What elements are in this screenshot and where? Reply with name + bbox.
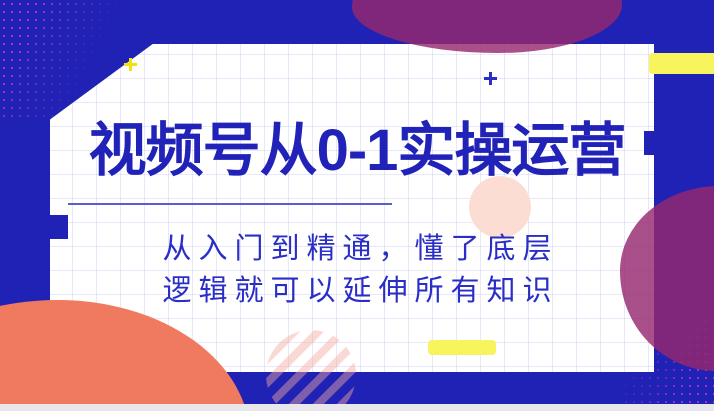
plus-mark-blue-top-icon xyxy=(484,72,497,85)
yellow-accent-bar-bottom xyxy=(428,340,496,355)
striped-circle-decoration xyxy=(266,330,356,411)
poster-subtitle: 从入门到精通，懂了底层 逻辑就可以延伸所有知识 xyxy=(0,228,714,312)
striped-circle-stripes xyxy=(266,330,356,411)
bottom-strip xyxy=(0,404,714,411)
poster-subtitle-line-2: 逻辑就可以延伸所有知识 xyxy=(0,270,714,312)
poster-subtitle-line-1: 从入门到精通，懂了底层 xyxy=(0,228,714,270)
yellow-accent-bar-top-right xyxy=(649,53,714,74)
plus-mark-yellow-icon xyxy=(124,58,137,71)
course-cover-poster: 视频号从0-1实操运营 从入门到精通，懂了底层 逻辑就可以延伸所有知识 xyxy=(0,0,714,411)
title-divider xyxy=(68,203,392,205)
poster-title: 视频号从0-1实操运营 xyxy=(0,122,714,180)
